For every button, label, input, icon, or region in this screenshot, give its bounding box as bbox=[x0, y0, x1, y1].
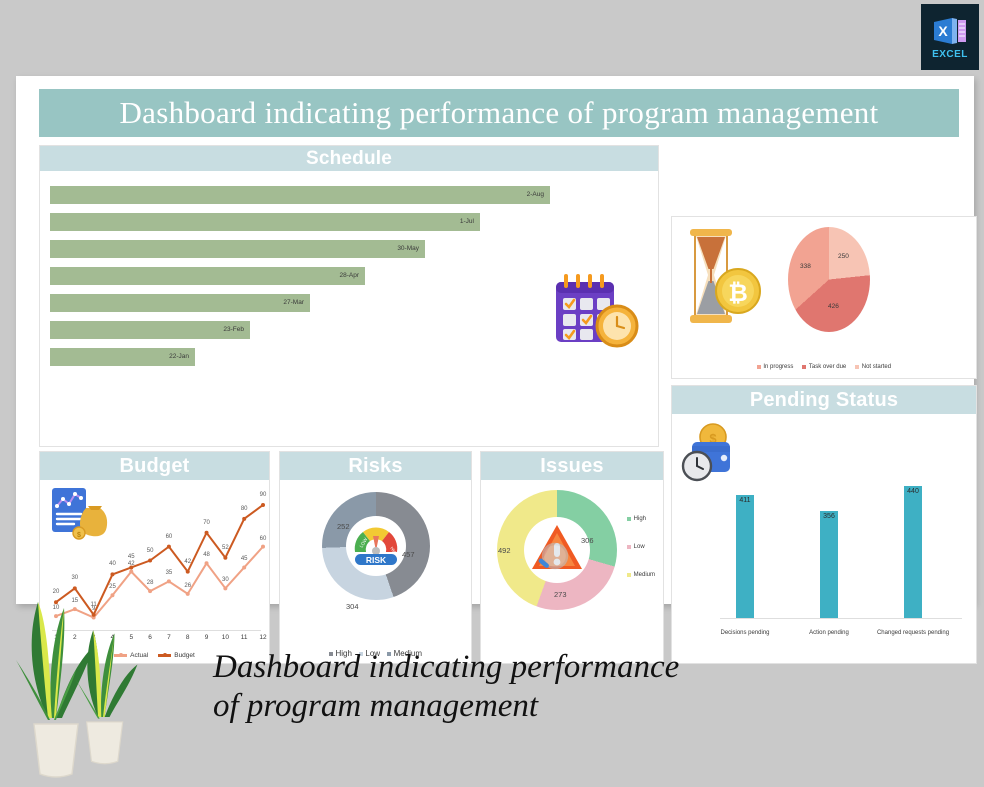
legend-swatch-issue-medium bbox=[627, 573, 631, 577]
pie-label-0: 250 bbox=[838, 253, 849, 260]
schedule-bar-label: 23-Feb bbox=[223, 326, 244, 333]
budget-point-label: 80 bbox=[241, 506, 248, 512]
budget-point-label: 30 bbox=[222, 577, 229, 583]
legend-label-issue-high: High bbox=[634, 516, 646, 522]
budget-x-tick: 12 bbox=[259, 634, 266, 641]
schedule-bar-label: 30-May bbox=[397, 245, 419, 252]
legend-label-not-started: Not started bbox=[862, 364, 891, 370]
budget-point-label: 42 bbox=[128, 561, 135, 567]
pie-legend: In progress Task over due Not started bbox=[672, 364, 976, 370]
budget-point bbox=[167, 545, 171, 549]
issues-label-medium: 492 bbox=[498, 546, 511, 555]
budget-point bbox=[223, 556, 227, 560]
legend-item-issue-high[interactable]: High bbox=[627, 516, 655, 522]
pending-bar[interactable]: 356 bbox=[820, 511, 838, 618]
pending-axis-line bbox=[720, 618, 962, 619]
schedule-row: 1-Jul bbox=[50, 208, 650, 235]
panel-issues-header: Issues bbox=[481, 452, 663, 480]
schedule-bar[interactable]: 1-Jul bbox=[50, 213, 480, 231]
excel-badge-label: EXCEL bbox=[932, 49, 968, 60]
pending-bar-value: 356 bbox=[823, 511, 835, 618]
budget-point bbox=[261, 503, 265, 507]
budget-point-label: 50 bbox=[147, 548, 154, 554]
budget-point bbox=[223, 586, 227, 590]
legend-swatch-issue-low bbox=[627, 545, 631, 549]
legend-label-task-over-due: Task over due bbox=[809, 364, 846, 370]
schedule-bar-label: 1-Jul bbox=[460, 218, 474, 225]
dashboard-title-bar: Dashboard indicating performance of prog… bbox=[39, 89, 959, 137]
panel-schedule: Schedule 2-Aug1-Jul30-May28-Apr27-Mar23-… bbox=[39, 145, 659, 447]
legend-swatch-in-progress bbox=[757, 365, 761, 369]
budget-point-label: 26 bbox=[184, 583, 191, 589]
issues-label-high: 306 bbox=[581, 536, 594, 545]
legend-item-task-over-due[interactable]: Task over due bbox=[802, 364, 846, 370]
legend-label-issue-medium: Medium bbox=[634, 572, 655, 578]
budget-point bbox=[129, 570, 133, 574]
budget-point-label: 48 bbox=[203, 552, 210, 558]
issues-doughnut-hole bbox=[524, 517, 590, 583]
pie-chart: 250 426 338 bbox=[788, 227, 870, 332]
panel-pending-status: Pending Status $ 411Decisions pending356… bbox=[671, 385, 977, 664]
pending-category-label: Decisions pending bbox=[720, 630, 769, 636]
risks-label-medium: 252 bbox=[337, 522, 350, 531]
pie-label-1: 426 bbox=[828, 303, 839, 310]
budget-point-label: 60 bbox=[166, 534, 173, 540]
schedule-bar[interactable]: 22-Jan bbox=[50, 348, 195, 366]
budget-point bbox=[261, 545, 265, 549]
schedule-bar-label: 27-Mar bbox=[283, 299, 304, 306]
panel-risks-title: Risks bbox=[348, 455, 402, 478]
budget-point bbox=[242, 517, 246, 521]
slide-caption: Dashboard indicating performance of prog… bbox=[213, 648, 913, 726]
budget-point bbox=[205, 531, 209, 535]
budget-point bbox=[167, 579, 171, 583]
panel-risks-header: Risks bbox=[280, 452, 471, 480]
schedule-bar[interactable]: 27-Mar bbox=[50, 294, 310, 312]
budget-point-label: 90 bbox=[260, 492, 267, 498]
legend-item-issue-medium[interactable]: Medium bbox=[627, 572, 655, 578]
hourglass-bitcoin-icon: ₿ bbox=[680, 225, 764, 329]
budget-x-tick: 9 bbox=[205, 634, 209, 641]
panel-pending-header: Pending Status bbox=[672, 386, 976, 414]
schedule-row: 2-Aug bbox=[50, 181, 650, 208]
risks-label-high: 457 bbox=[402, 550, 415, 559]
legend-swatch-issue-high bbox=[627, 517, 631, 521]
legend-item-issue-low[interactable]: Low bbox=[627, 544, 655, 550]
caption-line-1: Dashboard indicating performance bbox=[213, 648, 913, 687]
issues-chart: 306 273 492 High Low Medium bbox=[481, 480, 663, 664]
pending-category-label: Changed requests pending bbox=[877, 630, 949, 636]
dashboard-slide: Dashboard indicating performance of prog… bbox=[16, 76, 974, 604]
budget-point-label: 42 bbox=[184, 559, 191, 565]
legend-label-issue-low: Low bbox=[634, 544, 645, 550]
schedule-chart: 2-Aug1-Jul30-May28-Apr27-Mar23-Feb22-Jan bbox=[40, 171, 658, 446]
budget-x-tick: 8 bbox=[186, 634, 190, 641]
svg-text:₿: ₿ bbox=[728, 280, 748, 307]
pending-bar[interactable]: 440 bbox=[904, 486, 922, 618]
panel-schedule-title: Schedule bbox=[306, 148, 392, 170]
budget-x-tick: 10 bbox=[222, 634, 229, 641]
pie-label-2: 338 bbox=[800, 263, 811, 270]
budget-point-label: 52 bbox=[222, 545, 229, 551]
legend-item-budget[interactable]: Budget bbox=[158, 652, 195, 659]
excel-app-badge[interactable]: X EXCEL bbox=[921, 4, 979, 70]
risk-gauge-icon: LOW HIGH RISK bbox=[349, 520, 403, 573]
svg-text:X: X bbox=[938, 23, 948, 39]
legend-label-in-progress: In progress bbox=[763, 364, 793, 370]
budget-point-label: 70 bbox=[203, 520, 210, 526]
budget-point bbox=[205, 561, 209, 565]
budget-point-label: 35 bbox=[166, 570, 173, 576]
pending-bar-value: 411 bbox=[739, 495, 750, 618]
panel-issues: Issues 306 bbox=[480, 451, 664, 664]
warning-magnifier-icon bbox=[528, 521, 586, 580]
pending-category-label: Action pending bbox=[809, 630, 849, 636]
panel-budget-title: Budget bbox=[119, 455, 189, 478]
legend-swatch-task-over-due bbox=[802, 365, 806, 369]
panel-task-status-pie: ₿ 250 426 338 In progress Task over due bbox=[671, 216, 977, 379]
task-status-chart: ₿ 250 426 338 In progress Task over due bbox=[672, 217, 976, 378]
budget-point bbox=[148, 559, 152, 563]
panel-schedule-header: Schedule bbox=[40, 146, 658, 171]
decorative-plants bbox=[4, 578, 154, 782]
budget-point-label: 60 bbox=[260, 536, 267, 542]
schedule-bar[interactable]: 23-Feb bbox=[50, 321, 250, 339]
schedule-bar-label: 22-Jan bbox=[169, 353, 189, 360]
wallet-clock-icon: $ bbox=[680, 422, 742, 484]
budget-point bbox=[186, 570, 190, 574]
panel-pending-title: Pending Status bbox=[750, 389, 898, 412]
schedule-row: 30-May bbox=[50, 235, 650, 262]
risks-doughnut-hole: LOW HIGH RISK bbox=[346, 516, 406, 576]
budget-point-label: 45 bbox=[241, 556, 248, 562]
budget-x-tick: 11 bbox=[241, 634, 248, 641]
issues-legend: High Low Medium bbox=[627, 516, 655, 578]
caption-line-2: of program management bbox=[213, 687, 913, 726]
pending-bar-value: 440 bbox=[907, 486, 919, 618]
pie-slices bbox=[788, 227, 870, 332]
budget-point bbox=[110, 572, 114, 576]
budget-point-label: 40 bbox=[109, 561, 116, 567]
risks-label-low: 304 bbox=[346, 602, 359, 611]
risks-doughnut: LOW HIGH RISK bbox=[322, 492, 430, 600]
issues-label-low: 273 bbox=[554, 590, 567, 599]
schedule-bar[interactable]: 30-May bbox=[50, 240, 425, 258]
schedule-bar-label: 2-Aug bbox=[527, 191, 544, 198]
legend-item-in-progress[interactable]: In progress bbox=[757, 364, 794, 370]
svg-text:RISK: RISK bbox=[365, 555, 386, 565]
pending-status-chart: $ 411Decisions pending356Action pending4… bbox=[672, 414, 976, 664]
schedule-bar-label: 28-Apr bbox=[339, 272, 359, 279]
schedule-bar[interactable]: 28-Apr bbox=[50, 267, 365, 285]
legend-item-not-started[interactable]: Not started bbox=[855, 364, 891, 370]
budget-x-tick: 7 bbox=[167, 634, 171, 641]
budget-point bbox=[242, 565, 246, 569]
risks-chart: LOW HIGH RISK 457 304 252 High bbox=[280, 480, 471, 664]
pending-bar[interactable]: 411 bbox=[736, 495, 754, 618]
legend-marker-budget bbox=[158, 654, 171, 657]
panel-issues-title: Issues bbox=[540, 455, 603, 478]
schedule-bar[interactable]: 2-Aug bbox=[50, 186, 550, 204]
page-title: Dashboard indicating performance of prog… bbox=[119, 95, 878, 131]
budget-point bbox=[186, 592, 190, 596]
budget-point-label: 45 bbox=[128, 554, 135, 560]
calendar-clock-icon bbox=[550, 270, 642, 354]
legend-label-budget: Budget bbox=[174, 652, 195, 659]
legend-swatch-not-started bbox=[855, 365, 859, 369]
panel-budget-header: Budget bbox=[40, 452, 269, 480]
panel-risks: Risks LOW HIGH RIS bbox=[279, 451, 472, 664]
excel-logo-icon: X bbox=[933, 15, 967, 47]
